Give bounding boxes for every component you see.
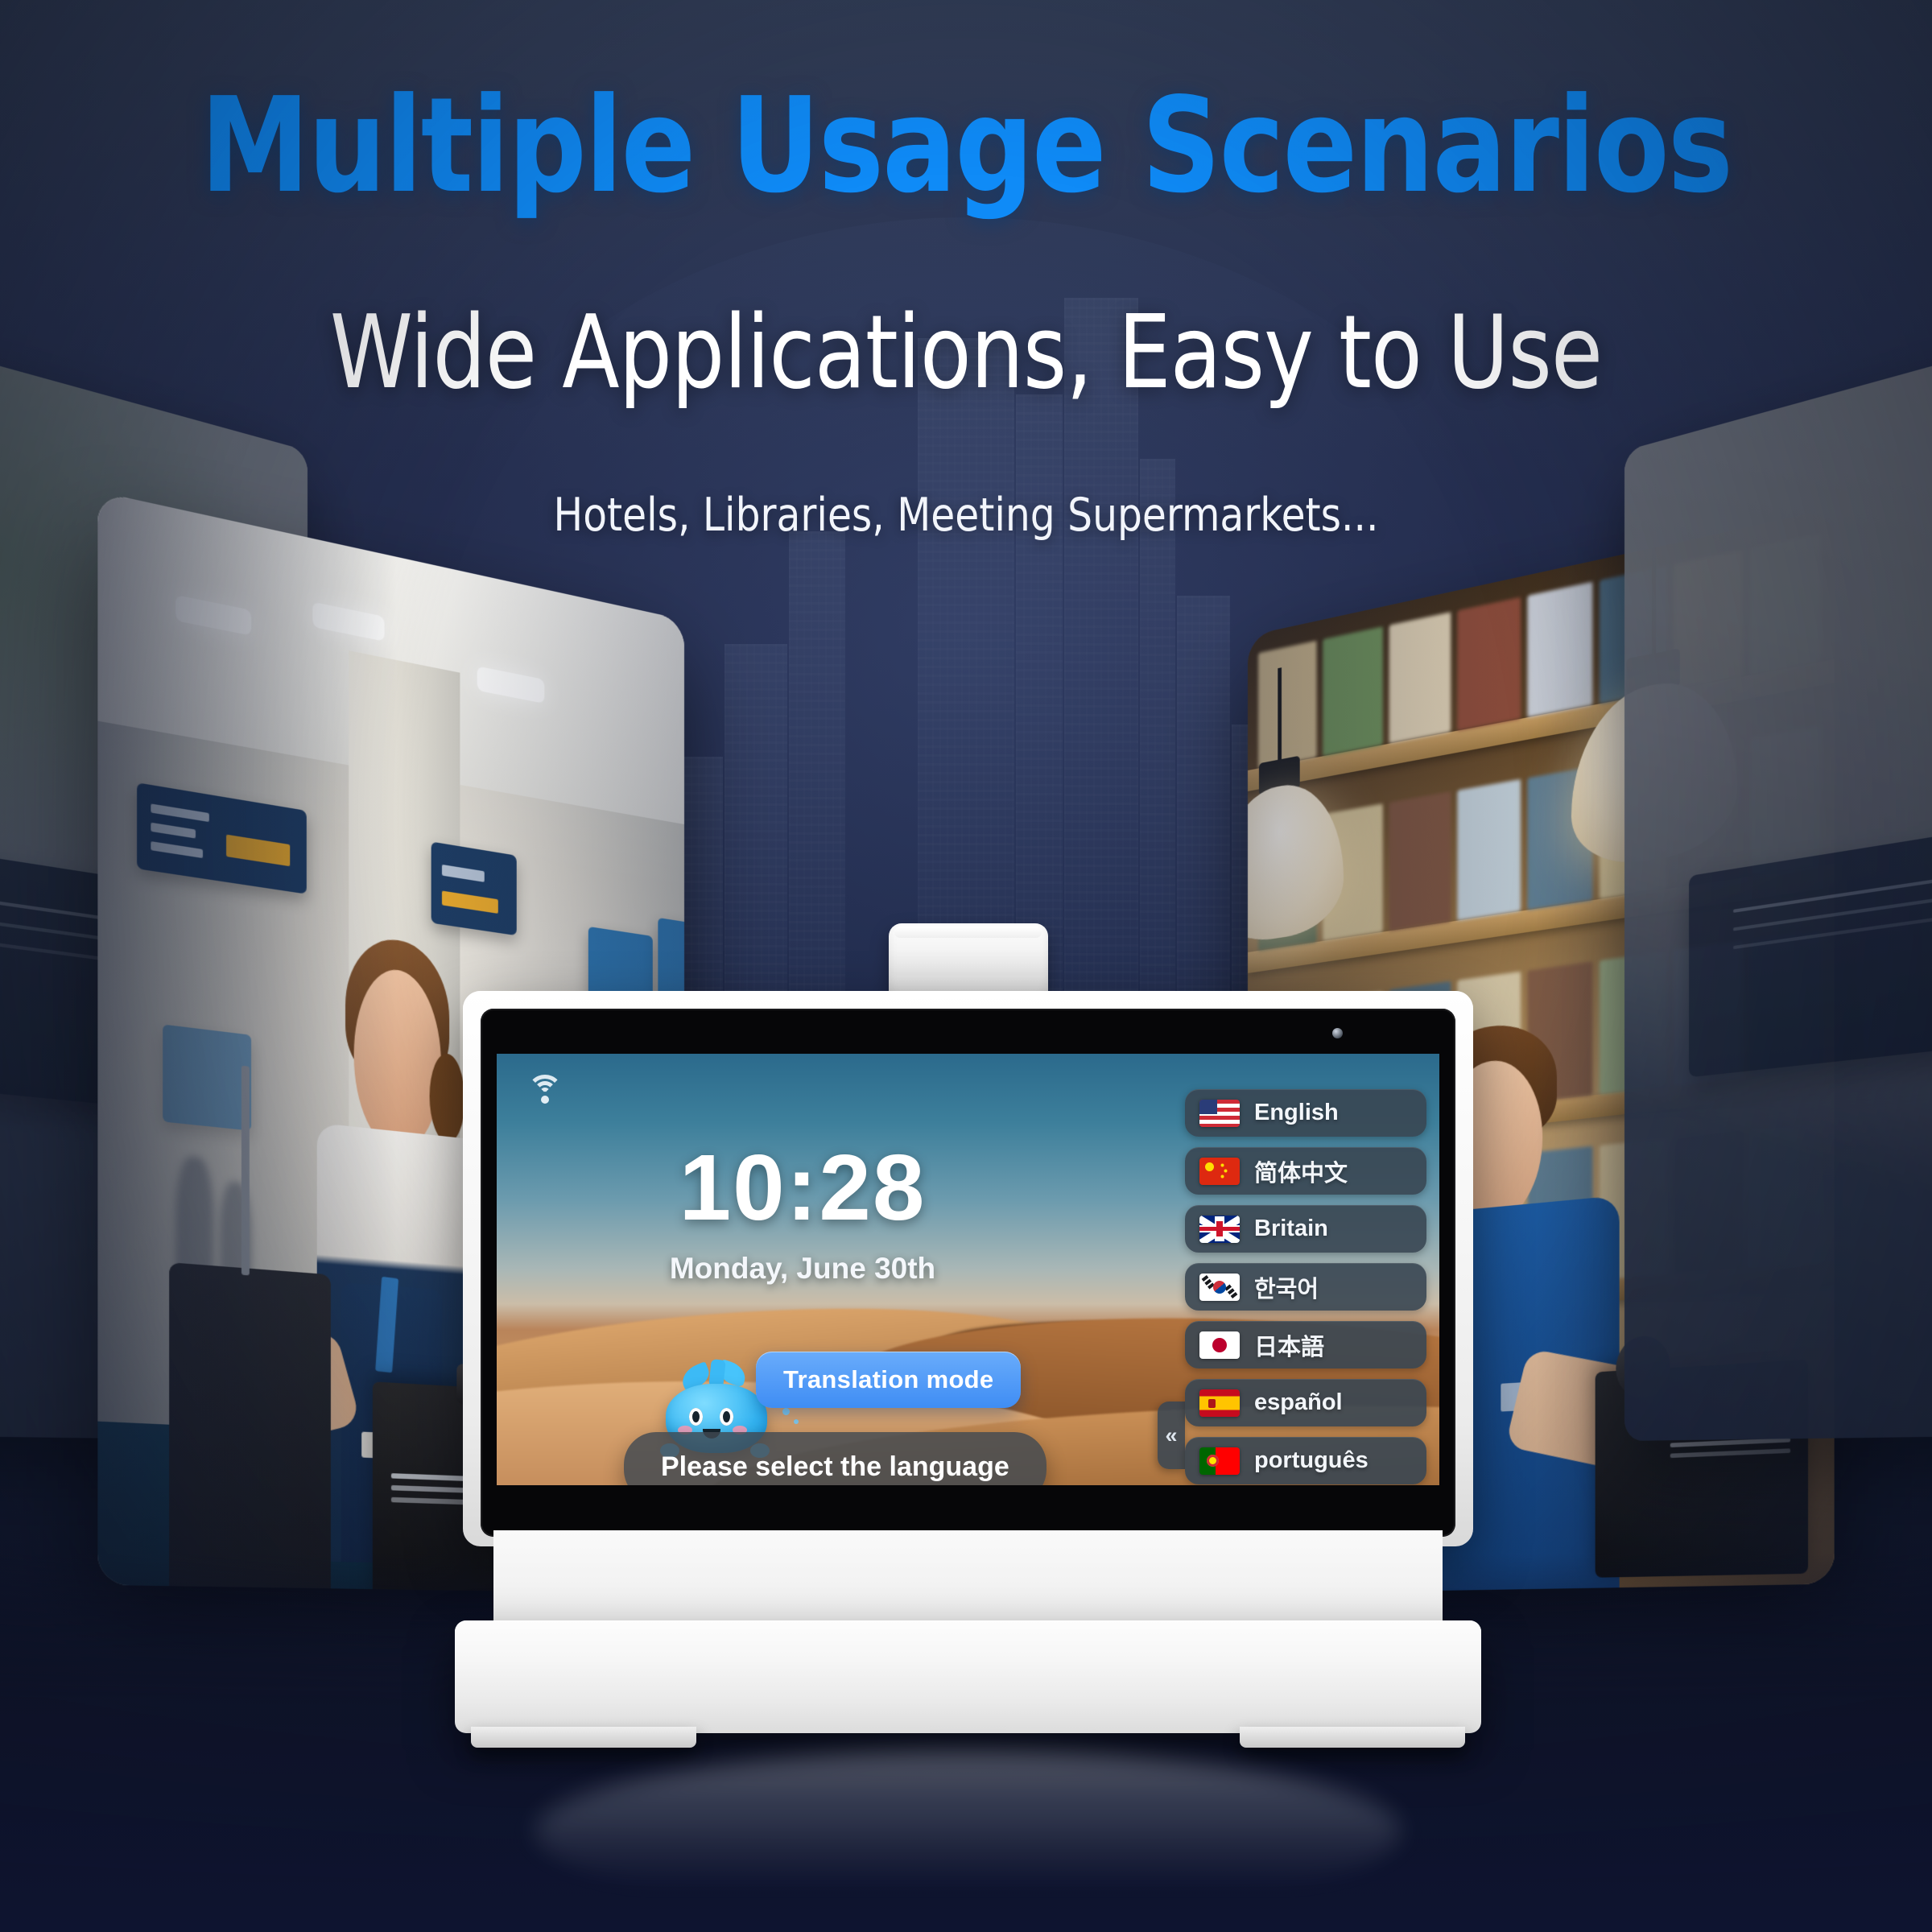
flag-jp-icon: [1199, 1331, 1240, 1359]
device-frame: 10:28 Monday, June 30th Translation mode…: [463, 991, 1473, 1546]
language-label: español: [1254, 1389, 1343, 1416]
language-prompt-bubble: Please select the language: [624, 1432, 1046, 1485]
list-item[interactable]: português: [1185, 1437, 1426, 1484]
flag-us-icon: [1199, 1100, 1240, 1127]
flag-pt-icon: [1199, 1447, 1240, 1475]
device-foot-right: [1240, 1727, 1465, 1748]
flag-cn-icon: [1199, 1158, 1240, 1185]
front-camera-icon: [1332, 1028, 1343, 1038]
device-reflection: [535, 1751, 1401, 1912]
device-screen: 10:28 Monday, June 30th Translation mode…: [497, 1054, 1439, 1485]
list-item[interactable]: 한국어: [1185, 1263, 1426, 1311]
list-item[interactable]: English: [1185, 1089, 1426, 1137]
translation-mode-button[interactable]: Translation mode: [756, 1352, 1021, 1408]
device-base: [455, 1620, 1481, 1733]
translation-terminal-device: 10:28 Monday, June 30th Translation mode…: [463, 946, 1473, 1827]
language-label: Britain: [1254, 1216, 1328, 1242]
flag-kr-icon: [1199, 1274, 1240, 1301]
list-item[interactable]: Britain: [1185, 1205, 1426, 1253]
language-label: 日本語: [1254, 1328, 1324, 1362]
language-label: 한국어: [1254, 1270, 1319, 1304]
language-label: 简体中文: [1254, 1154, 1348, 1188]
promo-banner: Multiple Usage Scenarios Wide Applicatio…: [0, 0, 1932, 1932]
clock-date: Monday, June 30th: [617, 1252, 988, 1286]
clock-time: 10:28: [617, 1141, 988, 1234]
device-foot-left: [471, 1727, 696, 1748]
clock-widget: 10:28 Monday, June 30th: [617, 1141, 988, 1286]
language-label: português: [1254, 1447, 1368, 1474]
language-list[interactable]: English 简体中文 Britain 한국어: [1185, 1089, 1426, 1485]
sensor-module: [889, 923, 1048, 1001]
wifi-icon: [524, 1075, 566, 1107]
collapse-panel-icon[interactable]: «: [1158, 1402, 1185, 1469]
list-item[interactable]: 简体中文: [1185, 1147, 1426, 1195]
device-neck: [493, 1530, 1443, 1633]
list-item[interactable]: 日本語: [1185, 1321, 1426, 1368]
flag-gb-icon: [1199, 1216, 1240, 1243]
list-item[interactable]: español: [1185, 1379, 1426, 1426]
language-label: English: [1254, 1100, 1339, 1126]
flag-es-icon: [1199, 1389, 1240, 1417]
